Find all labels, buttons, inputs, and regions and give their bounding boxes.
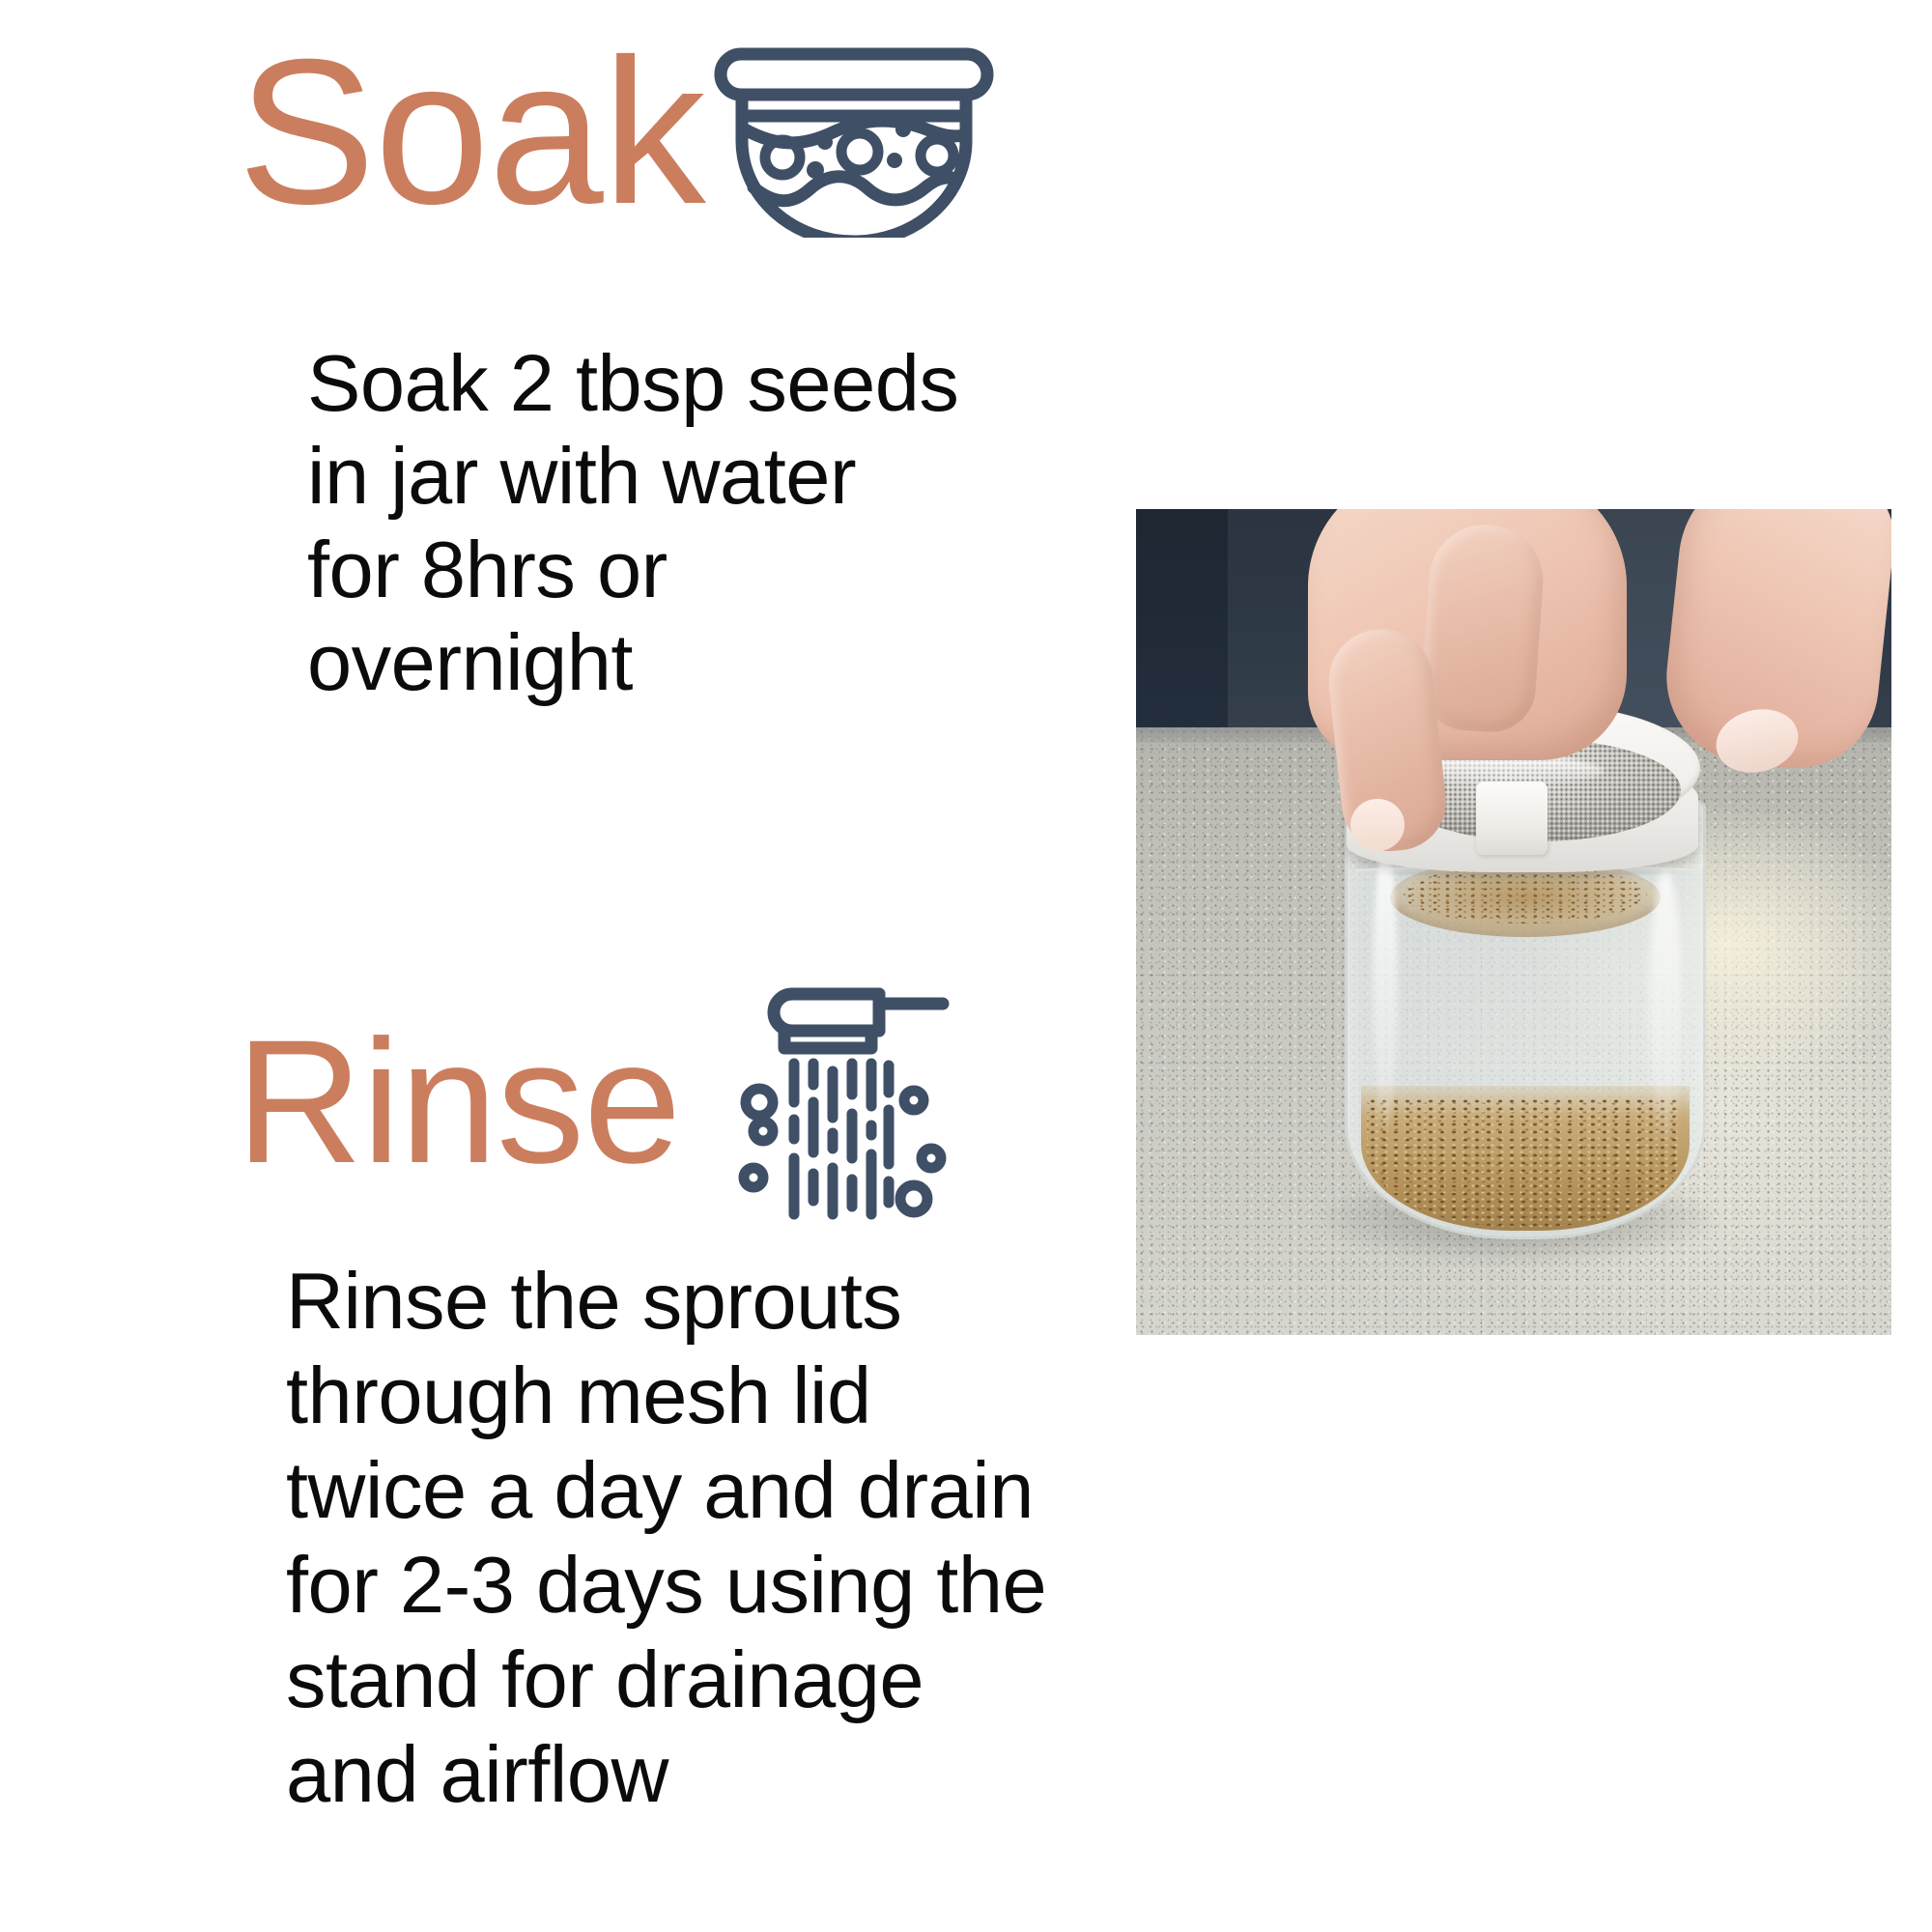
step-body-rinse: Rinse the sprouts through mesh lid twice…	[286, 1254, 1136, 1822]
bowl-of-water-icon	[709, 33, 999, 238]
hand	[1136, 509, 1891, 1335]
instruction-graphic: Soak	[0, 0, 1932, 1932]
step-title-soak: Soak	[238, 34, 705, 230]
step-heading-soak: Soak	[238, 27, 999, 238]
shower-rinse-icon	[724, 979, 952, 1232]
step-title-rinse: Rinse	[236, 1018, 680, 1185]
step-body-soak: Soak 2 tbsp seeds in jar with water for …	[307, 337, 1041, 709]
finger-middle	[1419, 521, 1548, 735]
instruction-column: Soak	[0, 0, 1135, 1932]
photo-scene	[1136, 509, 1891, 1335]
sprouting-jar-photo	[1136, 509, 1891, 1335]
step-heading-rinse: Rinse	[236, 971, 952, 1232]
fingernail	[1350, 799, 1405, 851]
